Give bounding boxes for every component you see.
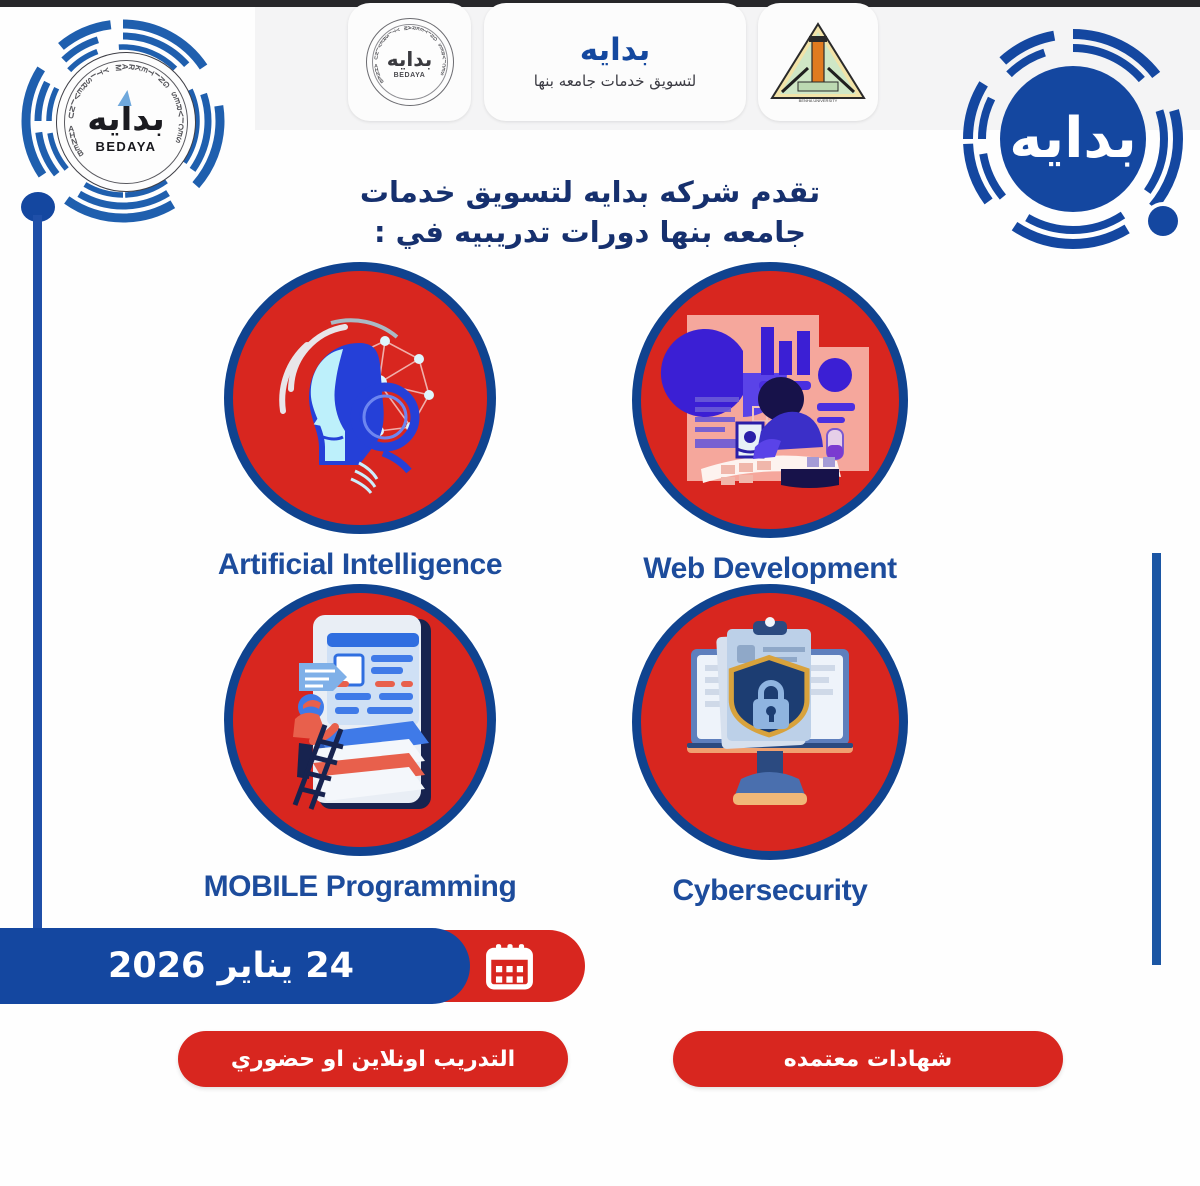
bedaya-badge-right: بدايه	[962, 28, 1184, 250]
bedaya-seal-big-icon: BENHA UNIVERSITY MARKETING SERVICES بداي…	[56, 52, 196, 192]
mobile-books-ladder-icon	[224, 584, 496, 856]
timeline-line-right	[1152, 553, 1161, 965]
training-mode-label: التدريب اونلاين او حضوري	[231, 1047, 515, 1072]
header-seal-card: BENHA UNIVERSITY MARKETING SERVICES بداي…	[348, 3, 471, 121]
course-card-web-development[interactable]: Web Development	[610, 262, 930, 586]
seal-big-ring-text: BENHA UNIVERSITY MARKETING SERVICES	[56, 52, 196, 192]
course-card-cybersecurity[interactable]: Cybersecurity	[610, 584, 930, 908]
svg-text:BENHA UNIVERSITY: BENHA UNIVERSITY	[799, 98, 838, 103]
web-dashboard-icon	[632, 262, 908, 538]
badge-arabic-mark: بدايه	[1009, 111, 1137, 167]
ai-head-network-icon	[224, 262, 496, 534]
date-bar: 24 يناير 2026	[0, 928, 470, 1004]
course-card-mobile-programming[interactable]: MOBILE Programming	[200, 584, 520, 904]
header-emblem-card: BENHA UNIVERSITY	[758, 3, 878, 121]
bedaya-seal-icon: BENHA UNIVERSITY MARKETING SERVICES بداي…	[366, 18, 454, 106]
brand-subtitle: لتسويق خدمات جامعه بنها	[534, 72, 696, 90]
date-text: 24 يناير 2026	[108, 946, 354, 986]
poster-root: BENHA UNIVERSITY MARKETING SERVICES بداي…	[0, 0, 1200, 1186]
bedaya-logo-left: BENHA UNIVERSITY MARKETING SERVICES بداي…	[18, 16, 228, 226]
timeline-line-left	[33, 215, 42, 933]
bird-mark-icon	[118, 90, 135, 106]
course-card-artificial-intelligence[interactable]: Artificial Intelligence	[200, 262, 520, 582]
certificates-label: شهادات معتمده	[784, 1047, 952, 1072]
course-label: Web Development	[610, 552, 930, 586]
calendar-icon	[484, 941, 535, 991]
seal-ring-text: BENHA UNIVERSITY MARKETING SERVICES	[366, 18, 454, 106]
page-title: تقدم شركه بدايه لتسويق خدمات جامعه بنها …	[330, 172, 850, 252]
training-mode-button[interactable]: التدريب اونلاين او حضوري	[178, 1031, 568, 1087]
monitor-shield-lock-icon	[632, 584, 908, 860]
badge-core: بدايه	[1000, 66, 1146, 212]
course-label: Cybersecurity	[610, 874, 930, 908]
course-label: MOBILE Programming	[200, 870, 520, 904]
brand-arabic: بدايه	[580, 35, 651, 66]
header-brand-card: بدايه لتسويق خدمات جامعه بنها	[484, 3, 746, 121]
benha-university-emblem-icon: BENHA UNIVERSITY	[768, 20, 868, 104]
badge-dot-icon	[1148, 206, 1178, 236]
course-label: Artificial Intelligence	[200, 548, 520, 582]
certificates-button[interactable]: شهادات معتمده	[673, 1031, 1063, 1087]
